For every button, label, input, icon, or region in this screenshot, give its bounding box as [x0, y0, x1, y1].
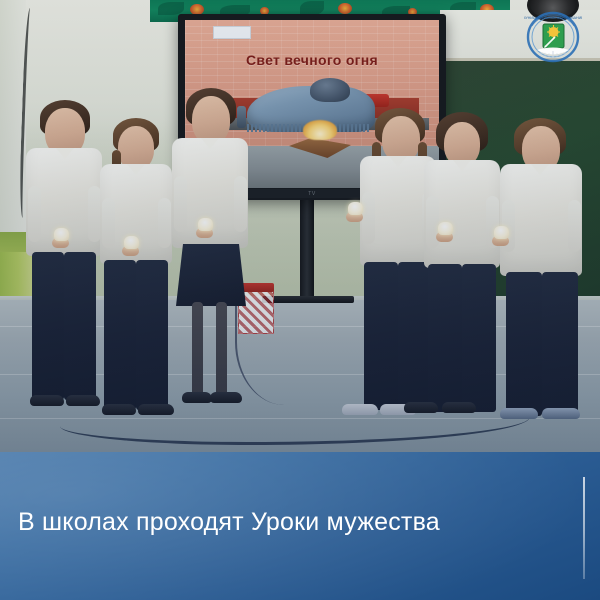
soldier-helmet-icon — [310, 78, 350, 102]
candle-4 — [348, 202, 363, 215]
candle-6 — [494, 226, 509, 239]
school-emblem-icon: МУНИЦИПАЛЬНОЕ ОБРАЗОВАНИЕ — [524, 6, 582, 68]
eternal-flame-icon — [303, 120, 337, 140]
candle-2 — [124, 236, 139, 249]
candle-1 — [54, 228, 69, 241]
candle-3 — [198, 218, 213, 231]
tv-stand-foot — [262, 296, 354, 303]
banner-divider-rule — [583, 477, 585, 579]
svg-text:МУНИЦИПАЛЬНОЕ ОБРАЗОВАНИЕ: МУНИЦИПАЛЬНОЕ ОБРАЗОВАНИЕ — [524, 16, 582, 20]
memorial-tassel — [237, 106, 246, 128]
photo-region: Свет вечного огня TV — [0, 0, 600, 455]
candle-5 — [438, 222, 453, 235]
banner-title: В школах проходят Уроки мужества — [18, 508, 440, 537]
social-post-card: Свет вечного огня TV — [0, 0, 600, 600]
tv-brand-label: TV — [308, 191, 315, 197]
slide-title: Свет вечного огня — [185, 52, 439, 68]
slide-corner-label — [213, 26, 251, 39]
tv-stand-column — [300, 200, 314, 300]
